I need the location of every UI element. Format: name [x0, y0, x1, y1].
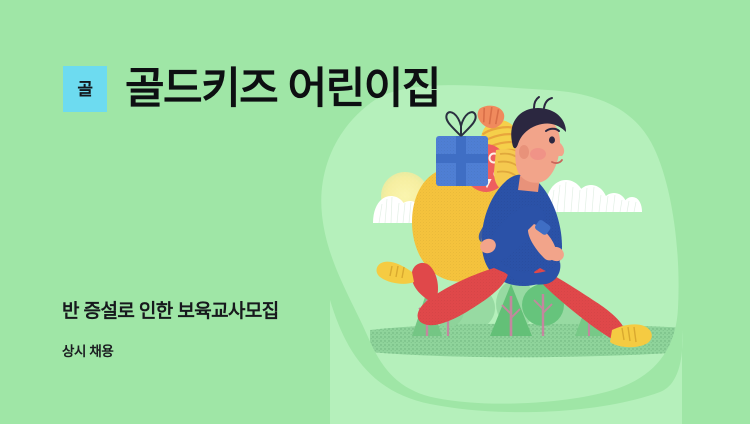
ground-strip	[370, 324, 690, 358]
torso-shirt	[482, 175, 562, 287]
logo-row: 골 골드키즈 어린이집	[63, 66, 440, 112]
gift-box	[436, 112, 488, 186]
backpack-straps	[484, 186, 535, 248]
headline-text: 반 증설로 인한 보육교사모집	[62, 296, 279, 323]
logo-badge: 골	[63, 66, 107, 112]
front-leg	[534, 268, 652, 347]
cloud-hill-right	[545, 180, 642, 212]
illustration-artwork	[0, 0, 750, 424]
rear-arm	[479, 196, 520, 243]
gift-items	[436, 102, 528, 192]
cloud-hill-left	[373, 196, 439, 223]
front-shoe	[610, 324, 652, 347]
front-arm	[488, 206, 566, 263]
rear-shoe	[377, 262, 414, 284]
gift-sack	[412, 163, 514, 282]
candy-wrapper	[474, 102, 506, 132]
shirt-hem	[490, 254, 560, 285]
striped-ball	[477, 116, 522, 163]
background-blob	[321, 85, 682, 424]
sun	[381, 172, 429, 220]
subline-text: 상시 채용	[62, 340, 113, 360]
rear-hand	[478, 236, 498, 255]
running-man-figure	[377, 97, 652, 347]
tree-row-front	[412, 284, 603, 336]
recruitment-banner: 골 골드키즈 어린이집 반 증설로 인한 보육교사모집 상시 채용	[0, 0, 750, 424]
logo-badge-text: 골	[77, 81, 92, 98]
brand-title: 골드키즈 어린이집	[125, 68, 440, 111]
tree-row-far	[449, 280, 587, 330]
rear-leg	[377, 262, 508, 326]
ribbon-fan	[494, 149, 528, 190]
patterned-ball	[464, 144, 508, 192]
head	[511, 97, 566, 192]
